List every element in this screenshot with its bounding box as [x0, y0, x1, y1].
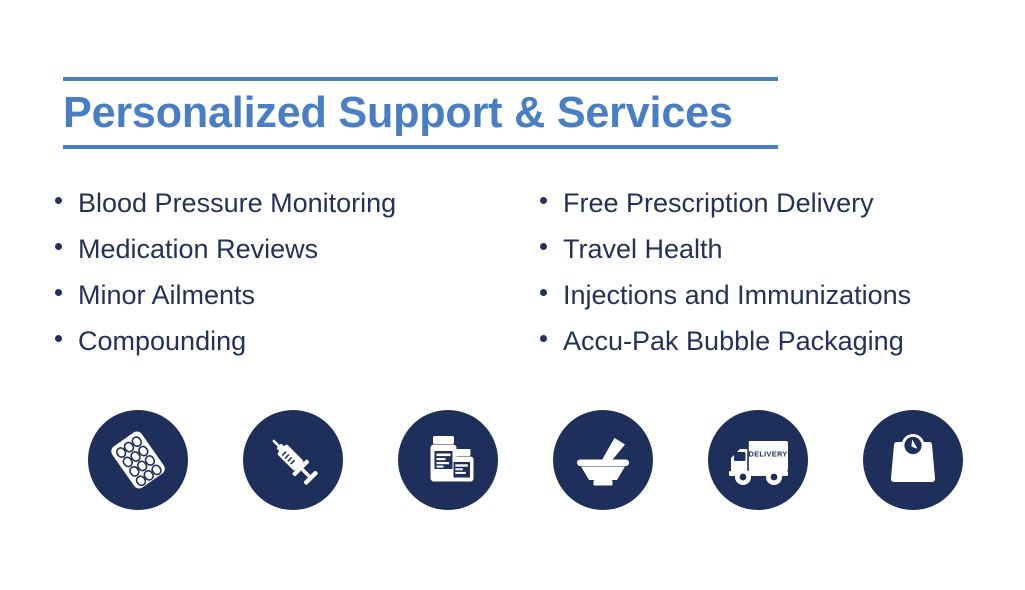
- list-item-label: Medication Reviews: [78, 226, 318, 272]
- icon-badge-pill-bottles: [398, 410, 498, 510]
- bullet-dot-icon: [540, 335, 547, 342]
- pill-bottles-icon: [417, 429, 479, 491]
- services-left-column: Blood Pressure Monitoring Medication Rev…: [55, 180, 535, 364]
- services-columns: Blood Pressure Monitoring Medication Rev…: [0, 180, 1025, 364]
- icon-badge-mortar-and-pestle: [553, 410, 653, 510]
- list-item: Free Prescription Delivery: [540, 180, 1020, 226]
- bullet-dot-icon: [540, 289, 547, 296]
- icon-badge-weight-scale: [863, 410, 963, 510]
- list-item-label: Blood Pressure Monitoring: [78, 180, 396, 226]
- syringe-icon: [262, 429, 324, 491]
- bullet-dot-icon: [540, 197, 547, 204]
- bullet-dot-icon: [540, 243, 547, 250]
- list-item: Minor Ailments: [55, 272, 535, 318]
- bullet-dot-icon: [55, 197, 62, 204]
- list-item: Injections and Immunizations: [540, 272, 1020, 318]
- bullet-dot-icon: [55, 243, 62, 250]
- weight-scale-icon: [882, 429, 944, 491]
- blister-pack-icon: [107, 429, 169, 491]
- bullet-dot-icon: [55, 289, 62, 296]
- slide-canvas: Personalized Support & Services Blood Pr…: [0, 0, 1025, 590]
- services-right-column: Free Prescription Delivery Travel Health…: [540, 180, 1020, 364]
- list-item: Blood Pressure Monitoring: [55, 180, 535, 226]
- mortar-and-pestle-icon: [571, 428, 635, 492]
- icon-badge-blister-pack: [88, 410, 188, 510]
- delivery-truck-label: DELIVERY: [748, 450, 787, 459]
- list-item-label: Compounding: [78, 318, 246, 364]
- list-item-label: Free Prescription Delivery: [563, 180, 874, 226]
- list-item: Accu-Pak Bubble Packaging: [540, 318, 1020, 364]
- bullet-dot-icon: [55, 335, 62, 342]
- service-icon-row: DELIVERY: [88, 410, 963, 510]
- list-item: Compounding: [55, 318, 535, 364]
- page-title: Personalized Support & Services: [63, 81, 764, 145]
- list-item: Medication Reviews: [55, 226, 535, 272]
- delivery-truck-icon: DELIVERY: [724, 429, 792, 491]
- icon-badge-delivery-truck: DELIVERY: [708, 410, 808, 510]
- icon-badge-syringe: [243, 410, 343, 510]
- list-item-label: Injections and Immunizations: [563, 272, 911, 318]
- title-rule-bottom: [63, 145, 778, 149]
- list-item-label: Travel Health: [563, 226, 723, 272]
- list-item-label: Minor Ailments: [78, 272, 255, 318]
- list-item-label: Accu-Pak Bubble Packaging: [563, 318, 904, 364]
- title-block: Personalized Support & Services: [63, 77, 778, 149]
- list-item: Travel Health: [540, 226, 1020, 272]
